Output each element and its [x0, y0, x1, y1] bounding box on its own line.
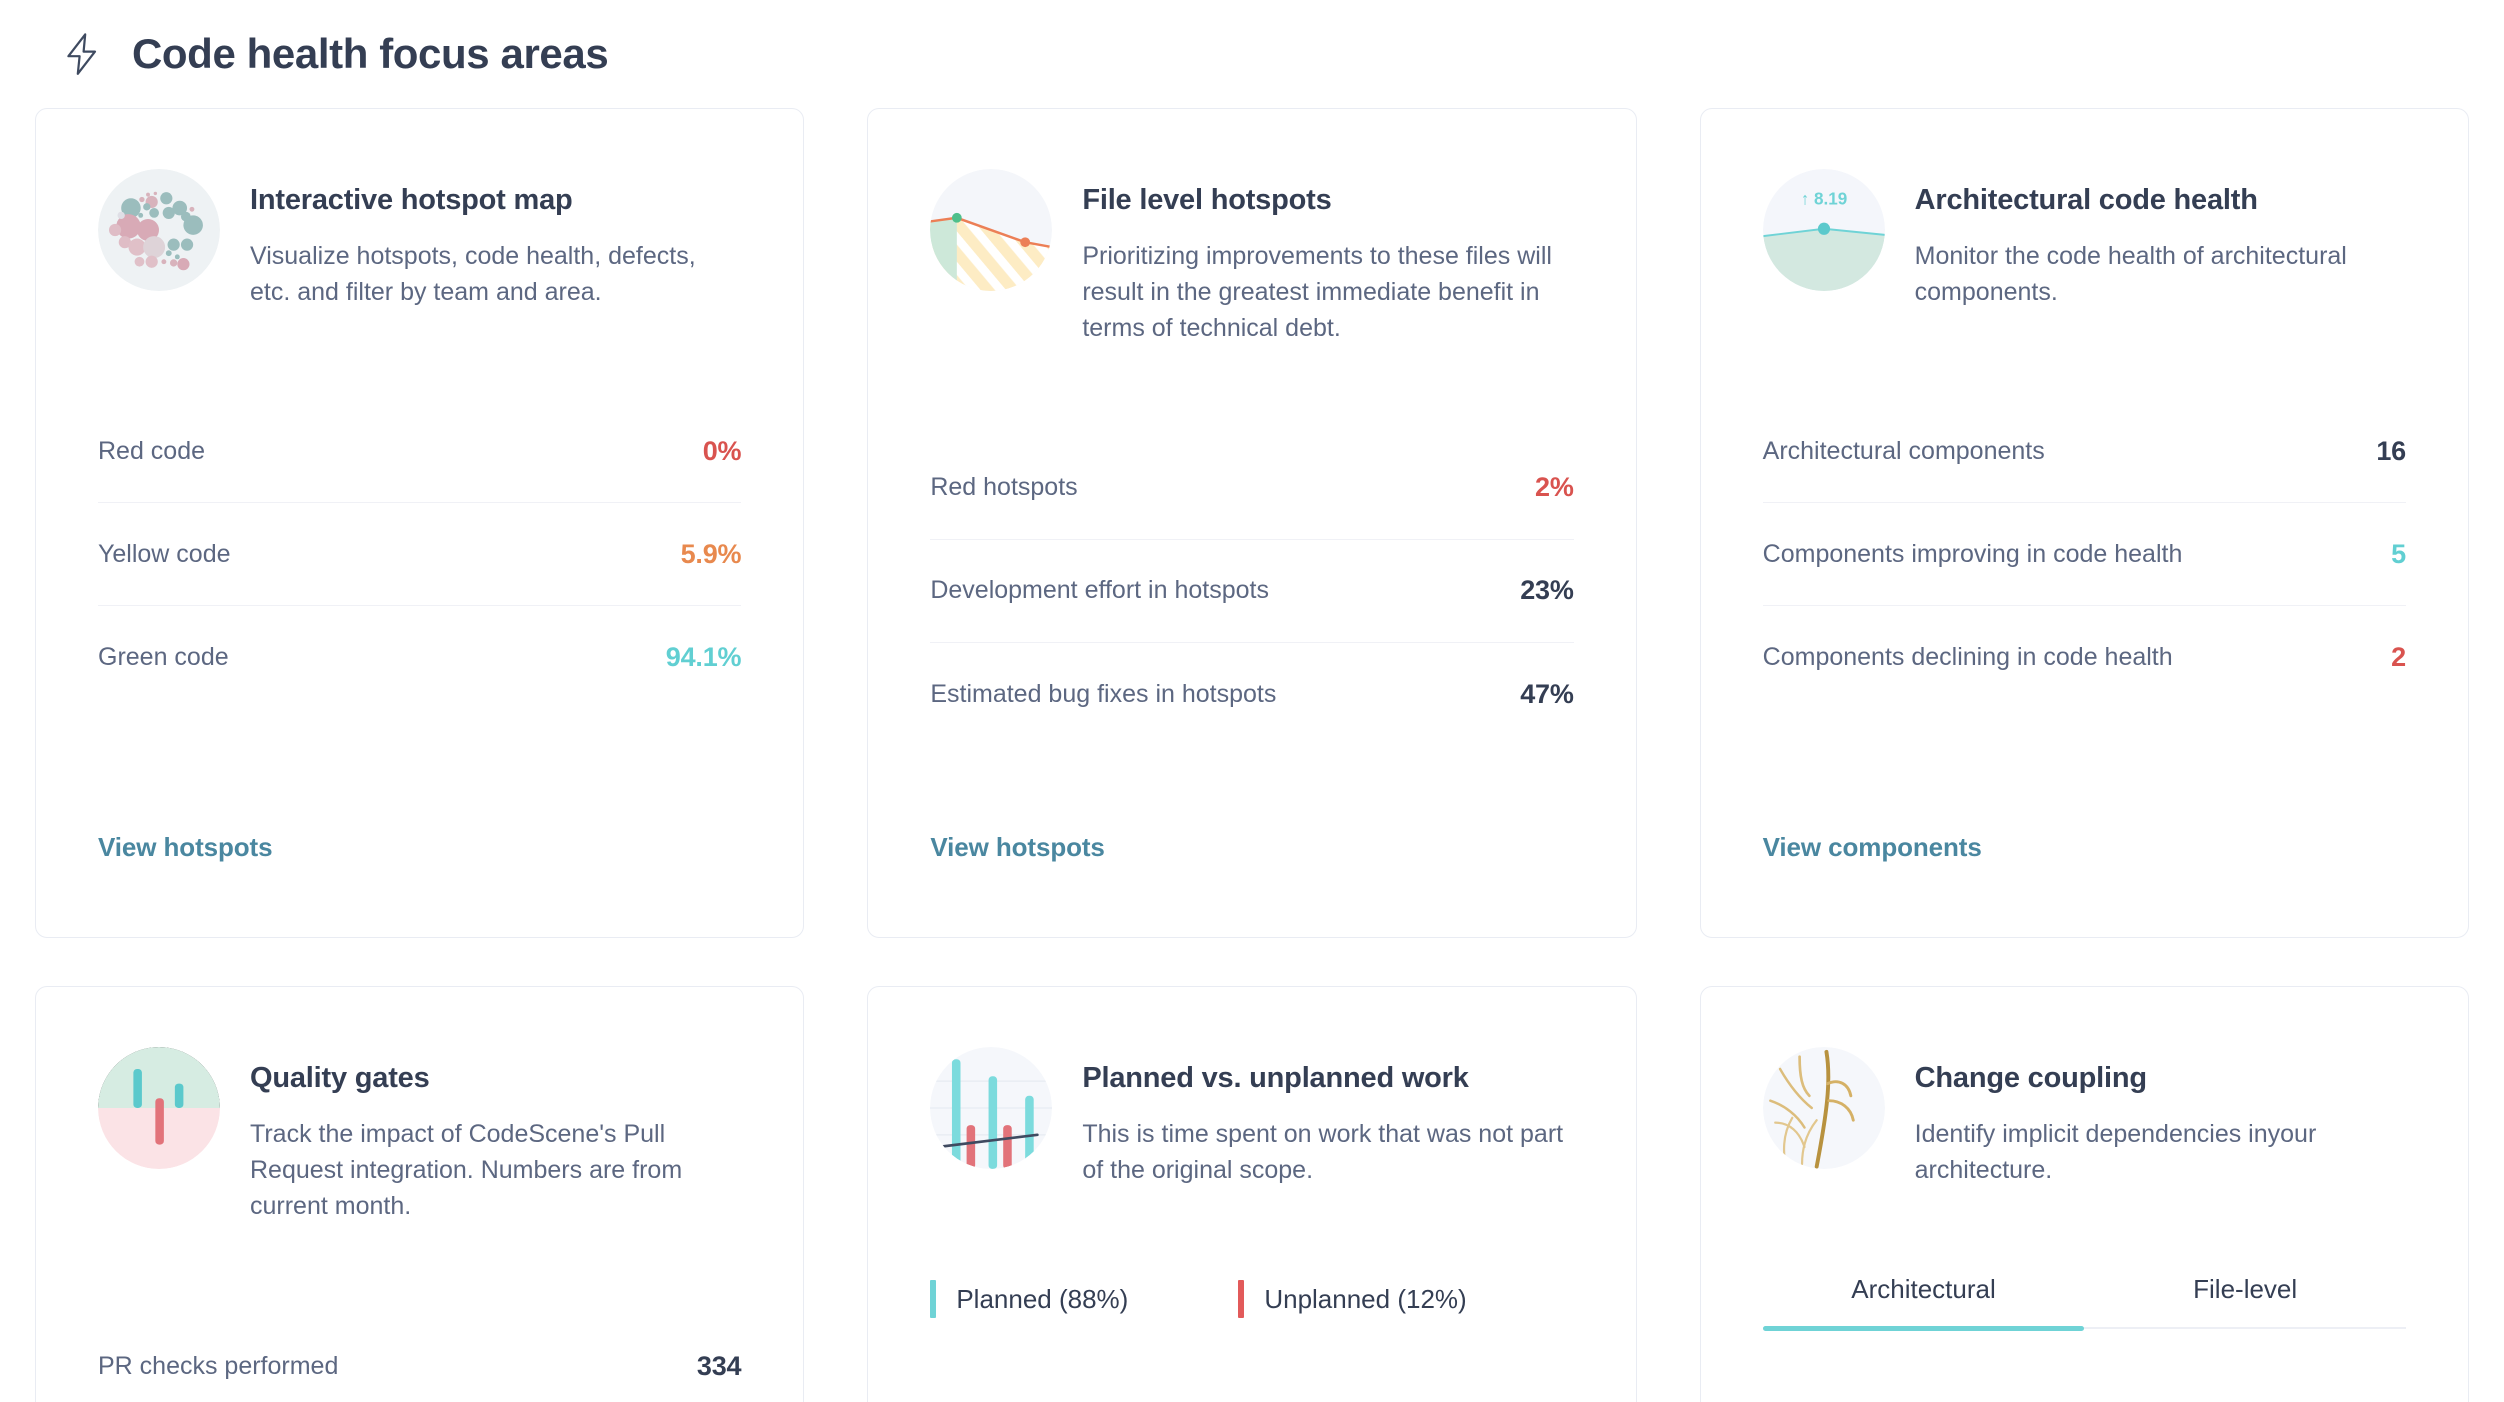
metric-label: Red hotspots [930, 473, 1077, 502]
legend-item-planned: Planned (88%) [930, 1280, 1128, 1318]
metric-value: 47% [1520, 679, 1573, 710]
tab-architectural[interactable]: Architectural [1763, 1274, 2085, 1327]
card-header-text: Architectural code health Monitor the co… [1915, 169, 2406, 310]
page-title: Code health focus areas [132, 33, 608, 75]
focus-area-card-grid-row1: Interactive hotspot map Visualize hotspo… [34, 108, 2470, 938]
card-title: Architectural code health [1915, 183, 2406, 218]
legend-label: Planned (88%) [956, 1284, 1128, 1315]
metric-row: Components declining in code health 2 [1763, 606, 2406, 709]
card-header-text: Change coupling Identify implicit depend… [1915, 1047, 2406, 1188]
metric-value: 0% [703, 436, 742, 467]
card-header: Quality gates Track the impact of CodeSc… [98, 1023, 741, 1225]
metrics-list: Red hotspots 2% Development effort in ho… [930, 437, 1573, 746]
metric-row: Red hotspots 2% [930, 437, 1573, 540]
legend-item-unplanned: Unplanned (12%) [1238, 1280, 1466, 1318]
quality-gate-bars-icon [98, 1047, 220, 1169]
card-quality-gates[interactable]: Quality gates Track the impact of CodeSc… [35, 986, 804, 1402]
card-interactive-hotspot-map[interactable]: Interactive hotspot map Visualize hotspo… [35, 108, 804, 938]
metric-row: Yellow code 5.9% [98, 503, 741, 606]
svg-text:↑ 8.19: ↑ 8.19 [1800, 189, 1847, 208]
metric-value: 2% [1535, 472, 1574, 503]
metric-label: Red code [98, 437, 205, 466]
metric-label: Estimated bug fixes in hotspots [930, 680, 1276, 709]
card-header: Planned vs. unplanned work This is time … [930, 1023, 1573, 1188]
branching-tree-icon [1763, 1047, 1885, 1169]
card-header: ↑ 8.19 Architectural code health Monitor… [1763, 145, 2406, 310]
focus-area-card-grid-row2: Quality gates Track the impact of CodeSc… [34, 938, 2470, 1402]
metrics-list: Red code 0% Yellow code 5.9% Green code … [98, 400, 741, 709]
metric-label: Architectural components [1763, 437, 2045, 466]
card-header-text: Interactive hotspot map Visualize hotspo… [250, 169, 741, 310]
metric-label: Green code [98, 643, 229, 672]
card-title: Interactive hotspot map [250, 183, 741, 218]
metric-row: Development effort in hotspots 23% [930, 540, 1573, 643]
card-header-text: File level hotspots Prioritizing improve… [1082, 169, 1573, 347]
card-change-coupling[interactable]: Change coupling Identify implicit depend… [1700, 986, 2469, 1402]
legend-swatch-unplanned [1238, 1280, 1244, 1318]
metric-label: Yellow code [98, 540, 231, 569]
metric-value: 334 [697, 1351, 741, 1382]
card-file-level-hotspots[interactable]: File level hotspots Prioritizing improve… [867, 108, 1636, 938]
striped-trend-down-icon [930, 169, 1052, 291]
metric-value: 5.9% [681, 539, 742, 570]
card-architectural-code-health[interactable]: ↑ 8.19 Architectural code health Monitor… [1700, 108, 2469, 938]
metric-label: Components improving in code health [1763, 540, 2183, 569]
tab-file-level[interactable]: File-level [2084, 1274, 2406, 1327]
metric-row: PR checks performed 334 [98, 1315, 741, 1402]
metric-value: 16 [2376, 436, 2406, 467]
hotspot-bubble-map-icon [98, 169, 220, 291]
metric-label: Components declining in code health [1763, 643, 2173, 672]
metric-value: 94.1% [666, 642, 742, 673]
metric-row: Red code 0% [98, 400, 741, 503]
card-title: File level hotspots [1082, 183, 1573, 218]
metric-value: 23% [1520, 575, 1573, 606]
code-health-focus-areas-page: Code health focus areas [0, 0, 2504, 1402]
metric-label: Development effort in hotspots [930, 576, 1269, 605]
metrics-list: PR checks performed 334 [98, 1315, 741, 1402]
card-header-text: Planned vs. unplanned work This is time … [1082, 1047, 1573, 1188]
bar-chart-icon [930, 1047, 1052, 1169]
legend-swatch-planned [930, 1280, 936, 1318]
card-planned-vs-unplanned-work[interactable]: Planned vs. unplanned work This is time … [867, 986, 1636, 1402]
legend-label: Unplanned (12%) [1264, 1284, 1466, 1315]
card-title: Planned vs. unplanned work [1082, 1061, 1573, 1096]
card-header: Change coupling Identify implicit depend… [1763, 1023, 2406, 1188]
card-header-text: Quality gates Track the impact of CodeSc… [250, 1047, 741, 1225]
card-header: Interactive hotspot map Visualize hotspo… [98, 145, 741, 310]
card-description: Visualize hotspots, code health, defects… [250, 238, 741, 311]
card-description: Track the impact of CodeScene's Pull Req… [250, 1116, 741, 1225]
metric-value: 5 [2391, 539, 2406, 570]
card-description: Monitor the code health of architectural… [1915, 238, 2406, 311]
card-description: Identify implicit dependencies inyour ar… [1915, 1116, 2406, 1189]
metrics-list: Architectural components 16 Components i… [1763, 400, 2406, 709]
change-coupling-tabs: Architectural File-level [1763, 1274, 2406, 1329]
planned-unplanned-legend: Planned (88%) Unplanned (12%) [930, 1280, 1573, 1318]
view-hotspots-link[interactable]: View hotspots [98, 832, 272, 863]
card-title: Change coupling [1915, 1061, 2406, 1096]
card-description: This is time spent on work that was not … [1082, 1116, 1573, 1189]
card-description: Prioritizing improvements to these files… [1082, 238, 1573, 347]
metric-row: Green code 94.1% [98, 606, 741, 709]
card-header: File level hotspots Prioritizing improve… [930, 145, 1573, 347]
metric-label: PR checks performed [98, 1352, 338, 1381]
view-components-link[interactable]: View components [1763, 832, 1982, 863]
metric-row: Architectural components 16 [1763, 400, 2406, 503]
metric-value: 2 [2391, 642, 2406, 673]
card-title: Quality gates [250, 1061, 741, 1096]
metric-row: Components improving in code health 5 [1763, 503, 2406, 606]
page-header: Code health focus areas [34, 0, 2470, 108]
area-trend-up-icon: ↑ 8.19 [1763, 169, 1885, 291]
view-hotspots-link[interactable]: View hotspots [930, 832, 1104, 863]
lightning-bolt-icon [58, 30, 106, 78]
metric-row: Estimated bug fixes in hotspots 47% [930, 643, 1573, 746]
